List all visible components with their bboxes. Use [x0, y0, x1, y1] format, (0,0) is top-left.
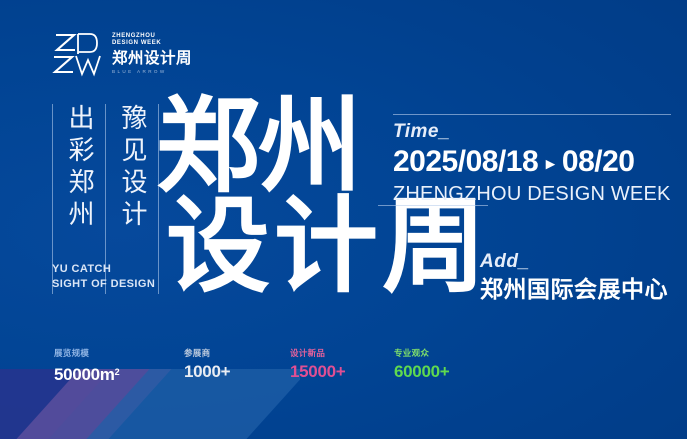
venue-name: 郑州国际会展中心	[480, 276, 668, 304]
event-name-english: ZHENGZHOU DESIGN WEEK	[393, 182, 671, 206]
logo-cn-name: 郑州设计周	[112, 50, 192, 67]
event-address-block: Add_ 郑州国际会展中心	[480, 250, 668, 304]
logo-en-line1: ZHENGZHOU	[112, 33, 192, 40]
stat-value: 15000+	[290, 362, 368, 382]
stat-label: 参展商	[184, 349, 264, 360]
logo-wordmark: ZHENGZHOU DESIGN WEEK 郑州设计周 BLUE ARROW	[112, 30, 192, 75]
stat-item: 参展商 1000+	[184, 349, 264, 385]
divider-rule-top	[393, 114, 671, 115]
time-label: Time_	[393, 120, 671, 144]
stats-bar: 展览规模 50000m2 参展商 1000+ 设计新品 15000+ 专业观众 …	[54, 349, 456, 385]
poster-canvas: ZHENGZHOU DESIGN WEEK 郑州设计周 BLUE ARROW 出…	[0, 0, 687, 439]
slogan-en-line1: YU CATCH	[52, 262, 155, 277]
stat-label: 设计新品	[290, 349, 368, 360]
slogan-english: YU CATCH SIGHT OF DESIGN	[52, 262, 155, 291]
event-date-start: 2025/08/18	[393, 145, 538, 178]
stat-value: 60000+	[394, 362, 456, 382]
stat-label: 展览规模	[54, 349, 158, 360]
event-date-range: 2025/08/18 ▸ 08/20	[393, 145, 671, 181]
stat-value-number: 50000m	[54, 365, 115, 384]
brand-logo: ZHENGZHOU DESIGN WEEK 郑州设计周 BLUE ARROW	[52, 30, 192, 78]
stat-label: 专业观众	[394, 349, 456, 360]
zdw-monogram-icon	[52, 30, 104, 78]
logo-en-line2: DESIGN WEEK	[112, 40, 192, 47]
title-line-2: 设计周	[166, 196, 490, 296]
stat-value-unit: 2	[115, 367, 120, 377]
stat-value: 1000+	[184, 362, 264, 382]
stat-item: 设计新品 15000+	[290, 349, 368, 385]
event-date-end: 08/20	[562, 145, 635, 178]
logo-subtext: BLUE ARROW	[112, 69, 192, 75]
date-arrow-icon: ▸	[546, 154, 554, 173]
stat-item: 展览规模 50000m2	[54, 349, 158, 385]
address-label: Add_	[480, 250, 668, 274]
stat-item: 专业观众 60000+	[394, 349, 456, 385]
stat-value: 50000m2	[54, 362, 158, 385]
event-time-block: Time_ 2025/08/18 ▸ 08/20 ZHENGZHOU DESIG…	[393, 120, 671, 206]
slogan-en-line2: SIGHT OF DESIGN	[52, 277, 155, 292]
